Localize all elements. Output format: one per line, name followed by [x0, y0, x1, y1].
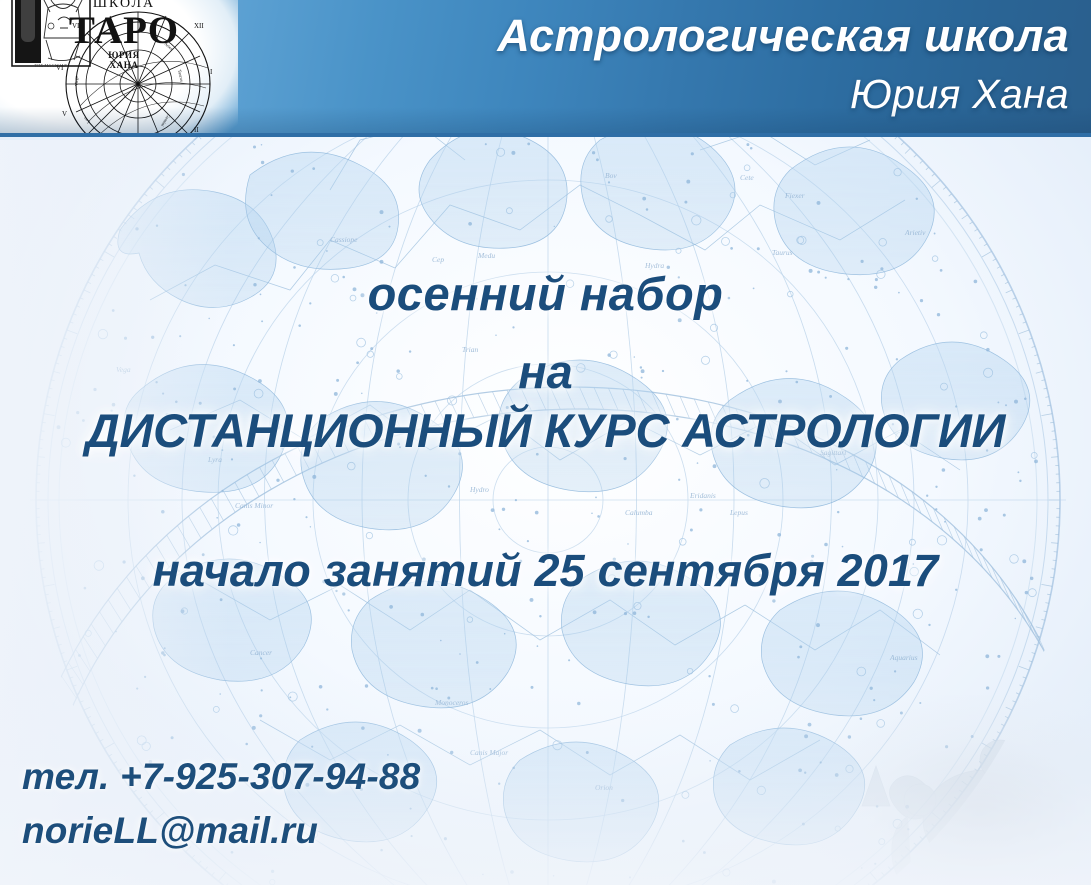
svg-text:Lepus: Lepus	[729, 508, 748, 517]
school-name-line2: Юрия Хана	[497, 66, 1069, 122]
school-logo[interactable]: I	[0, 0, 238, 137]
svg-text:Leo: Leo	[82, 115, 91, 124]
svg-text:Cancer: Cancer	[250, 648, 272, 657]
svg-text:Cep: Cep	[432, 255, 444, 264]
poster-root: Bov Cete Fiexer Arietiv Cassiope Cep Med…	[0, 0, 1091, 885]
svg-text:II: II	[194, 126, 199, 134]
svg-text:Hydro: Hydro	[469, 485, 489, 494]
svg-text:V: V	[62, 110, 67, 118]
svg-text:Aquarius: Aquarius	[889, 653, 918, 662]
logo-text-yuria: ЮРИЯ	[58, 50, 190, 60]
headline-course-title: ДИСТАНЦИОННЫЙ КУРС АСТРОЛОГИИ	[0, 403, 1091, 458]
svg-text:XII: XII	[194, 22, 204, 30]
svg-text:Calumba: Calumba	[625, 508, 653, 517]
svg-text:Eridanis: Eridanis	[689, 491, 716, 500]
tarot-card-caption: THE MAGICIAN	[12, 63, 90, 68]
svg-text:Taurus: Taurus	[177, 69, 184, 82]
header-title-block: Астрологическая школа Юрия Хана	[497, 6, 1069, 122]
headline-preposition-na: на	[0, 344, 1091, 399]
svg-text:Bov: Bov	[605, 171, 617, 180]
contact-email[interactable]: norieLL@mail.ru	[22, 810, 318, 852]
header-banner: I	[0, 0, 1091, 137]
svg-text:Taurus: Taurus	[772, 248, 793, 257]
svg-text:Virgo: Virgo	[74, 75, 79, 86]
svg-text:Medu: Medu	[477, 251, 495, 260]
logo-inner: I	[0, 0, 238, 137]
svg-text:I: I	[210, 68, 213, 76]
svg-text:Fiexer: Fiexer	[784, 191, 805, 200]
logo-text-taro: ТАРО	[58, 8, 190, 53]
svg-text:Cassiope: Cassiope	[330, 235, 358, 244]
svg-text:Arietiv: Arietiv	[904, 228, 926, 237]
contact-phone[interactable]: тел. +7-925-307-94-88	[22, 756, 420, 798]
svg-text:Cete: Cete	[740, 173, 754, 182]
svg-text:Cancer: Cancer	[113, 132, 127, 137]
svg-text:Gemini: Gemini	[160, 113, 172, 128]
headline-autumn-enrollment: осенний набор	[0, 266, 1091, 321]
headline-start-date: начало занятий 25 сентября 2017	[0, 545, 1091, 597]
school-name-line1: Астрологическая школа	[497, 6, 1069, 66]
svg-text:Canis Minor: Canis Minor	[235, 501, 273, 510]
